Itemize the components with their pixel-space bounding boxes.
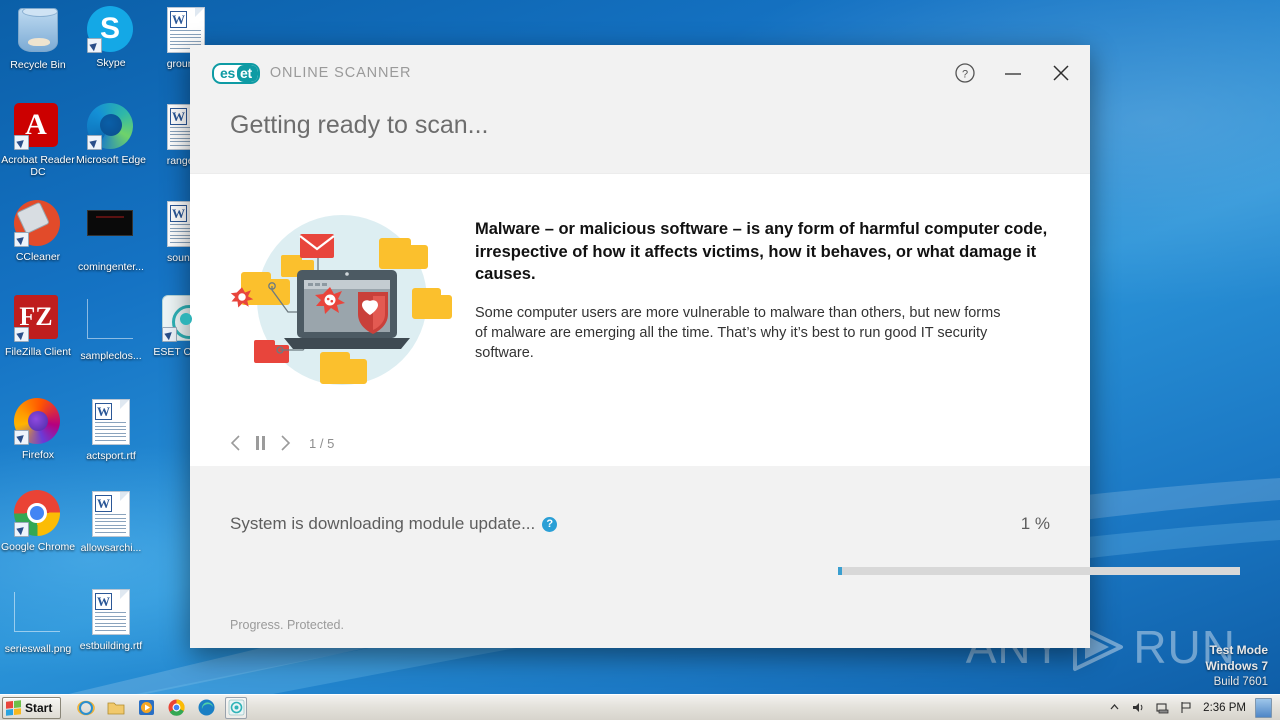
pause-icon[interactable]: [256, 436, 265, 450]
show-hidden-icons-icon[interactable]: [1107, 700, 1122, 715]
progress-bar: [838, 567, 1240, 575]
window-controls: ?: [952, 60, 1074, 86]
desktop-icon-recycle-bin[interactable]: Recycle Bin: [0, 6, 76, 71]
eset-logo-part1: es: [214, 65, 237, 82]
windows-flag-icon: [6, 700, 21, 716]
window-titlebar: es et ONLINE SCANNER ?: [190, 45, 1090, 101]
prev-icon[interactable]: [230, 434, 242, 452]
desktop-icon-sampleclos[interactable]: sampleclos...: [73, 295, 149, 362]
word-document-icon: W: [87, 589, 135, 637]
slide-body: Some computer users are more vulnerable …: [475, 303, 1015, 363]
eset-brand: es et ONLINE SCANNER: [212, 63, 411, 84]
build-label: Build 7601: [1205, 675, 1268, 690]
os-version-label: Windows 7: [1205, 659, 1268, 673]
progress-percent-label: 1 %: [1021, 514, 1050, 534]
page-title: Getting ready to scan...: [190, 101, 1090, 173]
taskbar-item-google-chrome[interactable]: [165, 697, 187, 719]
eset-logo-icon: es et: [212, 63, 260, 84]
windows-taskbar: Start 2:36 PM: [0, 694, 1280, 720]
desktop-icon-label: allowsarchi...: [73, 542, 149, 554]
ccleaner-icon: [14, 200, 62, 248]
slide-headline: Malware – or malicious software – is any…: [475, 218, 1050, 286]
desktop-icon-label: Firefox: [0, 449, 76, 461]
png-file-icon: [14, 592, 62, 640]
help-icon[interactable]: ?: [952, 60, 978, 86]
show-desktop-button[interactable]: [1255, 698, 1272, 718]
filezilla-icon: FZ: [14, 295, 62, 343]
desktop-icon-google-chrome[interactable]: Google Chrome: [0, 490, 76, 553]
word-document-icon: W: [87, 491, 135, 539]
word-document-icon: W: [87, 399, 135, 447]
desktop-icon-label: sampleclos...: [73, 350, 149, 362]
scan-status-footer: System is downloading module update... ?…: [190, 466, 1090, 648]
skype-icon: S: [87, 6, 135, 54]
desktop-icon-label: actsport.rtf: [73, 450, 149, 462]
desktop-icon-grid: Recycle Bin S Skype W grounde A Acrobat …: [0, 0, 200, 690]
svg-text:?: ?: [962, 69, 968, 81]
close-icon[interactable]: [1048, 60, 1074, 86]
eset-online-scanner-window: es et ONLINE SCANNER ? Getti: [190, 45, 1090, 648]
windows-test-mode-watermark: Test Mode Windows 7 Build 7601: [1205, 643, 1268, 690]
taskbar-item-microsoft-edge[interactable]: [195, 697, 217, 719]
test-mode-label: Test Mode: [1210, 643, 1268, 657]
desktop-icon-label: CCleaner: [0, 251, 76, 263]
footer-note: Progress. Protected.: [230, 618, 344, 632]
desktop-icon-label: Acrobat Reader DC: [0, 154, 76, 178]
desktop-icon-ccleaner[interactable]: CCleaner: [0, 200, 76, 263]
desktop-icon-skype[interactable]: S Skype: [73, 6, 149, 69]
malware-illustration: [230, 200, 455, 420]
desktop-icon-filezilla[interactable]: FZ FileZilla Client: [0, 295, 76, 358]
slide-counter: 1 / 5: [309, 436, 334, 451]
start-button[interactable]: Start: [2, 697, 61, 719]
eset-brand-text: ONLINE SCANNER: [270, 65, 412, 81]
desktop-icon-label: FileZilla Client: [0, 346, 76, 358]
status-text: System is downloading module update...: [230, 514, 535, 534]
minimize-icon[interactable]: [1000, 60, 1026, 86]
taskbar-item-windows-explorer[interactable]: [105, 697, 127, 719]
firefox-icon: [14, 398, 62, 446]
taskbar-item-media-player[interactable]: [135, 697, 157, 719]
desktop-icon-estbuilding-rtf[interactable]: W estbuilding.rtf: [73, 588, 149, 652]
acrobat-reader-icon: A: [14, 103, 62, 151]
slide-content: Malware – or malicious software – is any…: [190, 174, 1090, 420]
desktop-icon-allowsarchi[interactable]: W allowsarchi...: [73, 490, 149, 554]
network-icon[interactable]: [1155, 700, 1170, 715]
status-row: System is downloading module update... ?…: [190, 466, 1090, 534]
desktop-icon-label: Microsoft Edge: [73, 154, 149, 166]
taskbar-items: [75, 697, 247, 719]
desktop-icon-firefox[interactable]: Firefox: [0, 398, 76, 461]
desktop-icon-label: comingenter...: [73, 261, 149, 273]
desktop-icon-label: estbuilding.rtf: [73, 640, 149, 652]
desktop-icon-acrobat-reader[interactable]: A Acrobat Reader DC: [0, 103, 76, 178]
slide-panel: Malware – or malicious software – is any…: [190, 173, 1090, 466]
microsoft-edge-icon: [87, 103, 135, 151]
taskbar-item-eset-online-scanner[interactable]: [225, 697, 247, 719]
status-help-icon[interactable]: ?: [542, 517, 557, 532]
recycle-bin-icon: [14, 8, 62, 56]
taskbar-clock[interactable]: 2:36 PM: [1203, 702, 1246, 714]
desktop-icon-label: Recycle Bin: [0, 59, 76, 71]
desktop-icon-label: Google Chrome: [0, 541, 76, 553]
black-file-icon: [87, 210, 135, 258]
eset-logo-part2: et: [237, 65, 258, 82]
desktop-icon-label: Skype: [73, 57, 149, 69]
action-center-flag-icon[interactable]: [1179, 700, 1194, 715]
desktop-icon-microsoft-edge[interactable]: Microsoft Edge: [73, 103, 149, 166]
desktop-icon-label: serieswall.png: [0, 643, 76, 655]
png-file-icon: [87, 299, 135, 347]
system-tray: 2:36 PM: [1107, 698, 1280, 718]
start-button-label: Start: [25, 701, 52, 715]
progress-fill: [838, 567, 842, 575]
taskbar-item-internet-explorer[interactable]: [75, 697, 97, 719]
next-icon[interactable]: [279, 434, 291, 452]
slide-text: Malware – or malicious software – is any…: [455, 200, 1050, 420]
progress-track: [838, 567, 1240, 575]
desktop-icon-serieswall-png[interactable]: serieswall.png: [0, 588, 76, 655]
volume-icon[interactable]: [1131, 700, 1146, 715]
google-chrome-icon: [14, 490, 62, 538]
slide-carousel-controls: 1 / 5: [230, 434, 334, 452]
desktop-icon-actsport-rtf[interactable]: W actsport.rtf: [73, 398, 149, 462]
desktop-icon-comingenter[interactable]: comingenter...: [73, 200, 149, 273]
